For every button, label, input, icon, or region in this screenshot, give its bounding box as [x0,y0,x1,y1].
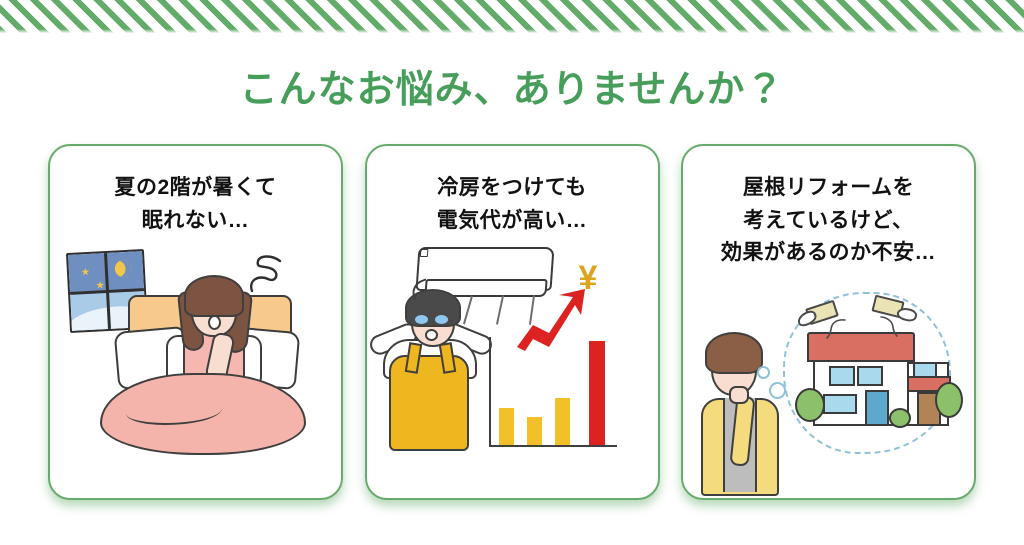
card-roof-reform-anxiety[interactable]: 屋根リフォームを 考えているけど、 効果があるのか不安… [681,144,976,500]
house-front-door [865,390,889,426]
woman-awake-in-bed-illustration: ★ ★ [50,237,341,498]
card-hot-second-floor[interactable]: 夏の2階が暑くて 眠れない… ★ ★ [48,144,343,500]
money-trail-squiggle [879,314,901,338]
rising-arrow-icon [515,289,589,351]
window-lower-left [823,394,857,414]
yen-currency-icon: ¥ [579,261,598,295]
chart-axis-x [489,445,617,447]
bar-4-highlighted [589,341,605,445]
frustration-squiggle-icon [246,253,290,297]
hair-top [184,275,244,317]
card-2-text: 冷房をつけても 電気代が高い… [437,172,588,237]
bar-2 [527,417,542,445]
cost-bar-chart [495,337,619,445]
window-upper-right [857,366,883,386]
worried-mouth [425,329,438,341]
airflow-line [495,295,503,325]
sweat-mark-right [435,315,448,324]
thought-bubble-small-1 [769,382,786,399]
concern-cards-row: 夏の2階が暑くて 眠れない… ★ ★ [48,144,976,500]
hand-on-chin [729,386,749,404]
open-mouth [208,315,221,330]
decorative-stripe-band [0,0,1024,34]
woman-thinking-about-house-illustration [683,270,974,498]
ac-indicator-light [419,249,428,257]
bush-right [935,382,963,418]
airflow-line [462,295,472,324]
bush-left [795,388,825,422]
sweat-mark-left [415,315,428,324]
page-title: こんなお悩み、ありませんか？ [0,68,1024,114]
star-icon: ★ [81,268,90,278]
card-3-text: 屋根リフォームを 考えているけど、 効果があるのか不安… [721,172,936,270]
bush-small [889,408,911,428]
card-high-electricity-bill[interactable]: 冷房をつけても 電気代が高い… [365,144,660,500]
stressed-woman-with-ac-illustration: ¥ [367,237,658,498]
card-1-text: 夏の2階が暑くて 眠れない… [114,172,276,237]
thought-bubble-small-2 [757,366,770,379]
bar-3 [555,398,570,446]
yellow-apron-body [389,355,469,451]
hair [705,332,763,374]
window-upper-left [829,366,855,386]
bar-1 [499,408,514,445]
chart-axis-y [489,337,491,447]
money-trail-squiggle [825,318,847,340]
